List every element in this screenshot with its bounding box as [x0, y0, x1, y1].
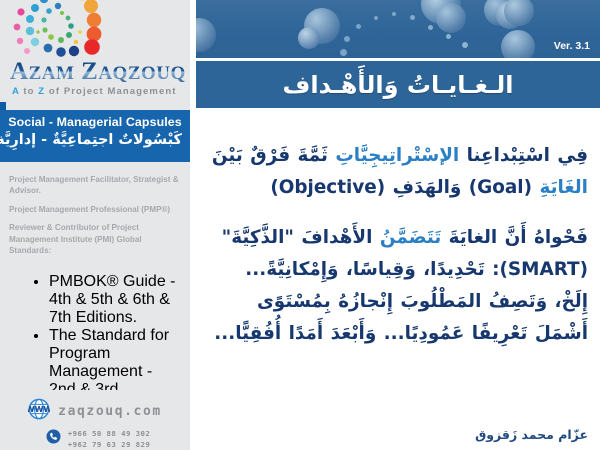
spiral-dots-logo — [8, 0, 128, 60]
decor-sphere — [462, 42, 468, 48]
phone-row: +966 50 88 49 302 +962 79 63 29 829 — [0, 429, 190, 450]
version-label: Ver. 3.1 — [554, 40, 590, 52]
website-row[interactable]: WWW zaqzouq.com — [0, 395, 190, 425]
contact-block: WWW zaqzouq.com +966 50 88 49 302 +962 7… — [0, 395, 190, 450]
credential-item: Reviewer & Contributor of Project Manage… — [9, 222, 181, 256]
title-bar: الـغـايـاتُ وَالأَهْـداف — [196, 61, 600, 108]
author-signature: عزّام محمد زَقزوق — [475, 427, 588, 442]
phone-icon — [46, 429, 61, 449]
paragraph-1: فِي اسْتِبْداعِنا الإسْتْراتِيجِيَّاتِ ث… — [206, 140, 588, 204]
text-segment: فَحْواهُ أَنَّ الغايَةَ — [441, 227, 588, 248]
decor-sphere — [428, 25, 433, 30]
capsule-title-en: Social - Managerial Capsules — [8, 115, 182, 129]
decor-sphere — [298, 27, 320, 49]
logo-tagline-rest: of Project Management — [45, 86, 176, 97]
svg-text:AZAM ZAQZOUQ: AZAM ZAQZOUQ — [10, 58, 185, 85]
slide-root: AZAM ZAQZOUQ A to Z of Project Managemen… — [0, 0, 600, 450]
decor-sphere — [356, 24, 361, 29]
svg-text:WWW: WWW — [28, 405, 50, 414]
website-url: zaqzouq.com — [58, 404, 162, 419]
phone-number-1: +966 50 88 49 302 — [68, 429, 150, 438]
credential-bullet: PMBOK® Guide - 4th & 5th & 6th & 7th Edi… — [49, 273, 181, 327]
header-decoration-band — [196, 0, 600, 58]
www-globe-icon: WWW — [28, 398, 50, 425]
text-segment: فِي اسْتِبْداعِنا — [459, 145, 588, 166]
credential-bullet: The Standard for Program Management - 2n… — [49, 327, 181, 390]
logo-area: AZAM ZAQZOUQ A to Z of Project Managemen… — [0, 0, 190, 110]
credential-bullets: PMBOK® Guide - 4th & 5th & 6th & 7th Edi… — [9, 273, 181, 390]
credential-text: Project Management Professional (PMP®) — [9, 205, 170, 214]
credential-item: Project Management Facilitator, Strategi… — [9, 174, 181, 197]
credential-text: Reviewer & Contributor of Project Manage… — [9, 223, 142, 255]
logo-tagline: A to Z of Project Management — [12, 86, 177, 97]
decor-sphere — [340, 49, 347, 56]
paragraph-2: فَحْواهُ أَنَّ الغايَةَ تَتَضَمَّنُ الأَ… — [206, 222, 588, 349]
page-title: الـغـايـاتُ وَالأَهْـداف — [283, 71, 514, 99]
credentials-list: Project Management Facilitator, Strategi… — [0, 168, 190, 390]
credential-text: Project Management Facilitator, Strategi… — [9, 175, 179, 195]
text-segment-highlight: الإسْتْراتِيجِيَّاتِ — [335, 145, 459, 166]
decor-sphere — [504, 0, 534, 26]
logo-tagline-a: A — [12, 86, 20, 97]
decor-sphere — [446, 34, 451, 39]
text-segment-highlight: الغَايَةِ — [539, 177, 588, 198]
decor-sphere — [436, 3, 466, 33]
decor-sphere — [410, 15, 415, 20]
decor-sphere — [392, 12, 396, 16]
decor-sphere — [374, 16, 378, 20]
credential-item: Project Management Professional (PMP®) — [9, 204, 181, 215]
decor-sphere — [501, 30, 535, 58]
logo-wordmark: AZAM ZAQZOUQ — [10, 56, 185, 86]
content-area: فِي اسْتِبْداعِنا الإسْتْراتِيجِيَّاتِ ث… — [196, 112, 600, 422]
decor-sphere — [344, 36, 350, 42]
decor-sphere — [196, 18, 216, 52]
text-segment: ثَمَّةَ فَرْقٌ بَيْنَ — [212, 145, 335, 166]
logo-tagline-to: to — [20, 86, 39, 97]
phone-number-2: +962 79 63 29 829 — [68, 440, 150, 449]
capsule-title-ar: كَبْسُولاتٌ اجتِماعِيَّةٌ - إدارِيَّة — [8, 132, 182, 148]
sidebar: AZAM ZAQZOUQ A to Z of Project Managemen… — [0, 0, 190, 450]
text-segment: (Goal) وَالهَدَفِ (Objective) — [270, 177, 539, 198]
phone-numbers: +966 50 88 49 302 +962 79 63 29 829 — [68, 429, 150, 450]
text-segment-highlight: تَتَضَمَّنُ — [380, 227, 441, 248]
capsule-header: Social - Managerial Capsules كَبْسُولاتٌ… — [0, 110, 190, 162]
